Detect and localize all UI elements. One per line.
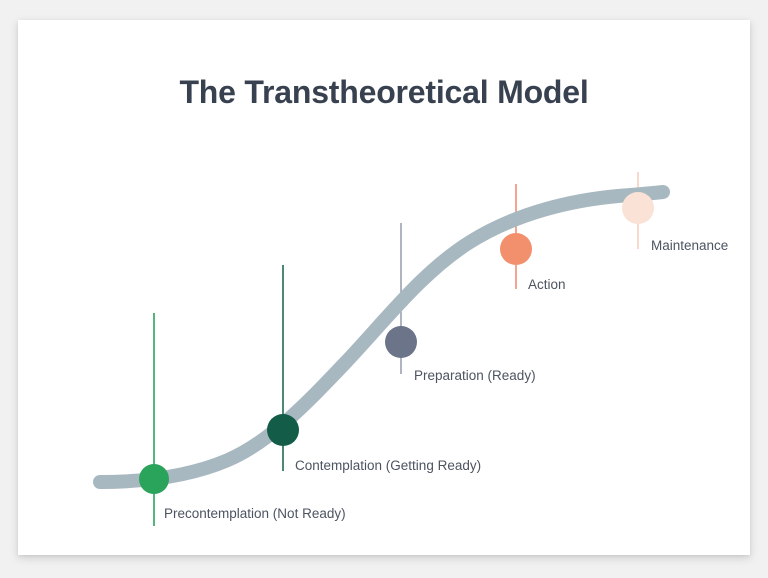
transtheoretical-curve-chart	[18, 20, 750, 555]
stage-label-3: Preparation (Ready)	[414, 369, 536, 383]
stage-label-5: Maintenance	[651, 239, 728, 253]
stage-marker-1[interactable]	[139, 464, 169, 494]
stage-label-4: Action	[528, 278, 566, 292]
stage-marker-5[interactable]	[622, 192, 654, 224]
stage-marker-4[interactable]	[500, 233, 532, 265]
slide-card: The Transtheoretical Model Precontemplat…	[18, 20, 750, 555]
stage-markers	[139, 192, 654, 494]
progress-s-curve	[100, 192, 663, 482]
stage-marker-2[interactable]	[267, 414, 299, 446]
stage-marker-3[interactable]	[385, 326, 417, 358]
stage-label-1: Precontemplation (Not Ready)	[164, 507, 346, 521]
stage-label-2: Contemplation (Getting Ready)	[295, 459, 481, 473]
